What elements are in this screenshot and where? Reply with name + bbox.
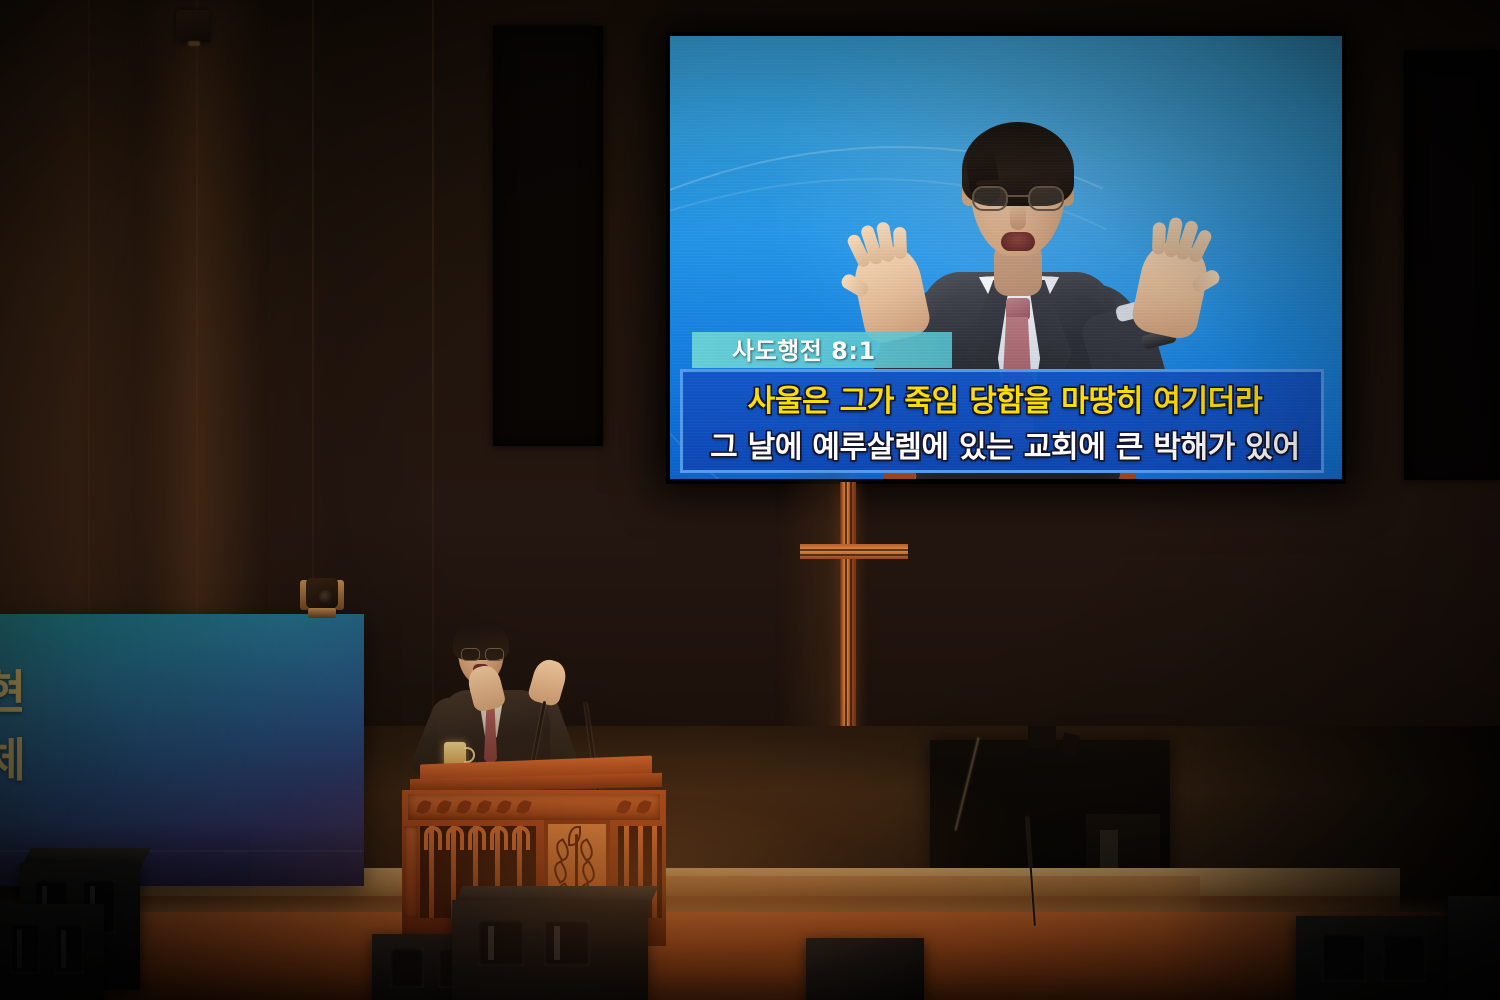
wall-vignette: [0, 0, 1500, 1000]
sanctuary-scene: 사도행전 8:1 사울은 그가 죽임 당함을 마땅히 여기더라 그 날에 예루살…: [0, 0, 1500, 1000]
